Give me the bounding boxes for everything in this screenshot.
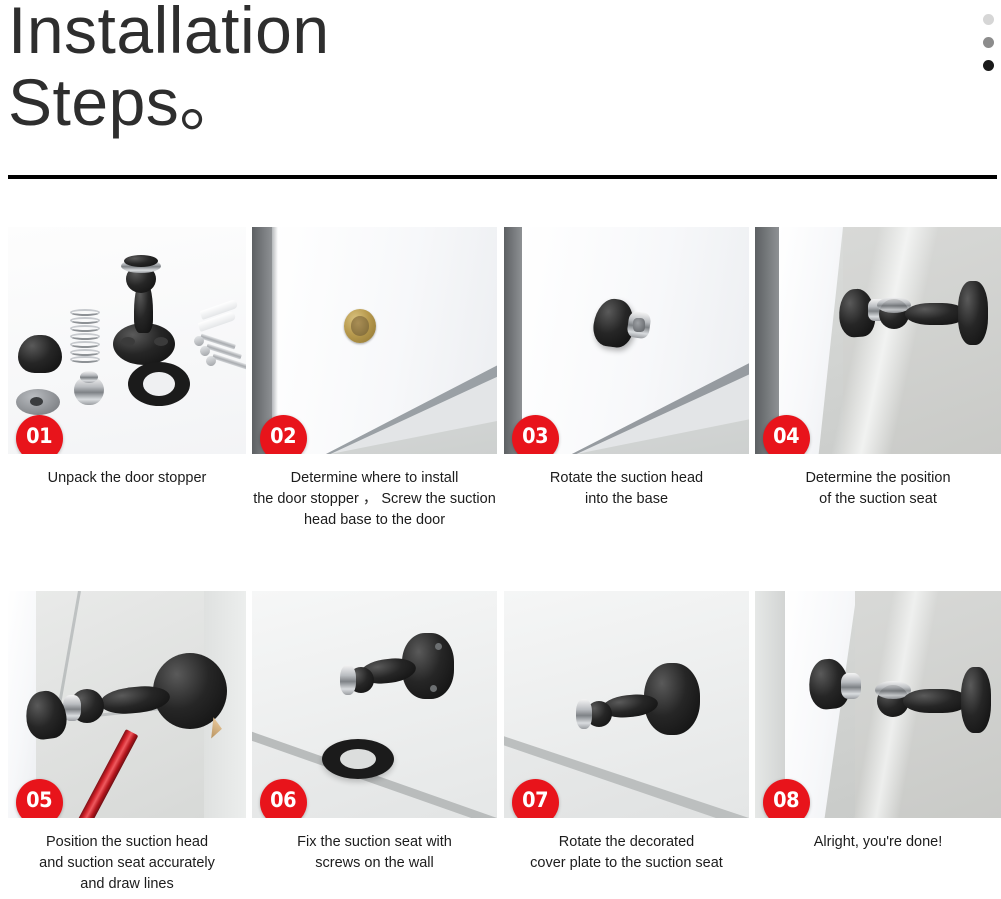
step-photo-08: 08 [755, 591, 1001, 818]
step-photo-07: 07 [504, 591, 749, 818]
step-photo-06: 06 [252, 591, 497, 818]
step-card-08[interactable]: 08 Alright, you're done! [755, 591, 1001, 853]
step-badge-05: 05 [16, 779, 63, 818]
step-number-01: 01 [27, 424, 53, 448]
step-caption-07: Rotate the decorated cover plate to the … [504, 832, 749, 874]
step-caption-01: Unpack the door stopper [8, 468, 246, 489]
step-card-05[interactable]: 05 Position the suction head and suction… [8, 591, 246, 895]
step-badge-08: 08 [763, 779, 810, 818]
steps-row-2: 05 Position the suction head and suction… [0, 591, 1001, 899]
step-badge-07: 07 [512, 779, 559, 818]
step-photo-05: 05 [8, 591, 246, 818]
step-card-06[interactable]: 06 Fix the suction seat with screws on t… [252, 591, 497, 874]
step-badge-01: 01 [16, 415, 63, 454]
pagination-dots [983, 14, 1001, 78]
step-number-03: 03 [523, 424, 549, 448]
step-number-05: 05 [27, 788, 53, 812]
step-badge-06: 06 [260, 779, 307, 818]
step-number-06: 06 [271, 788, 297, 812]
steps-grid: 01 Unpack the door stopper [0, 227, 1001, 899]
steps-row-1: 01 Unpack the door stopper [0, 227, 1001, 587]
step-photo-01: 01 [8, 227, 246, 454]
step-caption-08: Alright, you're done! [755, 832, 1001, 853]
step-badge-03: 03 [512, 415, 559, 454]
step-photo-02: 02 [252, 227, 497, 454]
step-card-03[interactable]: 03 Rotate the suction head into the base [504, 227, 749, 510]
step-caption-05: Position the suction head and suction se… [8, 832, 246, 895]
step-card-04[interactable]: 04 Determine the position of the suction… [755, 227, 1001, 510]
dot-active-icon[interactable] [983, 60, 994, 71]
page-title: Installation Steps。 [8, 0, 330, 138]
step-caption-02: Determine where to install the door stop… [252, 468, 497, 531]
step-caption-04: Determine the position of the suction se… [755, 468, 1001, 510]
step-caption-06: Fix the suction seat with screws on the … [252, 832, 497, 874]
step-badge-04: 04 [763, 415, 810, 454]
step-number-02: 02 [271, 424, 297, 448]
step-number-04: 04 [774, 424, 800, 448]
step-photo-03: 03 [504, 227, 749, 454]
step-card-02[interactable]: 02 Determine where to install the door s… [252, 227, 497, 531]
dot-inactive-2-icon[interactable] [983, 37, 994, 48]
step-caption-03: Rotate the suction head into the base [504, 468, 749, 510]
dot-inactive-1-icon[interactable] [983, 14, 994, 25]
page-header: Installation Steps。 [0, 0, 1001, 180]
step-badge-02: 02 [260, 415, 307, 454]
step-card-07[interactable]: 07 Rotate the decorated cover plate to t… [504, 591, 749, 874]
step-card-01[interactable]: 01 Unpack the door stopper [8, 227, 246, 489]
step-number-07: 07 [523, 788, 549, 812]
step-photo-04: 04 [755, 227, 1001, 454]
header-divider [8, 175, 997, 179]
step-number-08: 08 [774, 788, 800, 812]
installation-steps-page: Installation Steps。 [0, 0, 1001, 899]
